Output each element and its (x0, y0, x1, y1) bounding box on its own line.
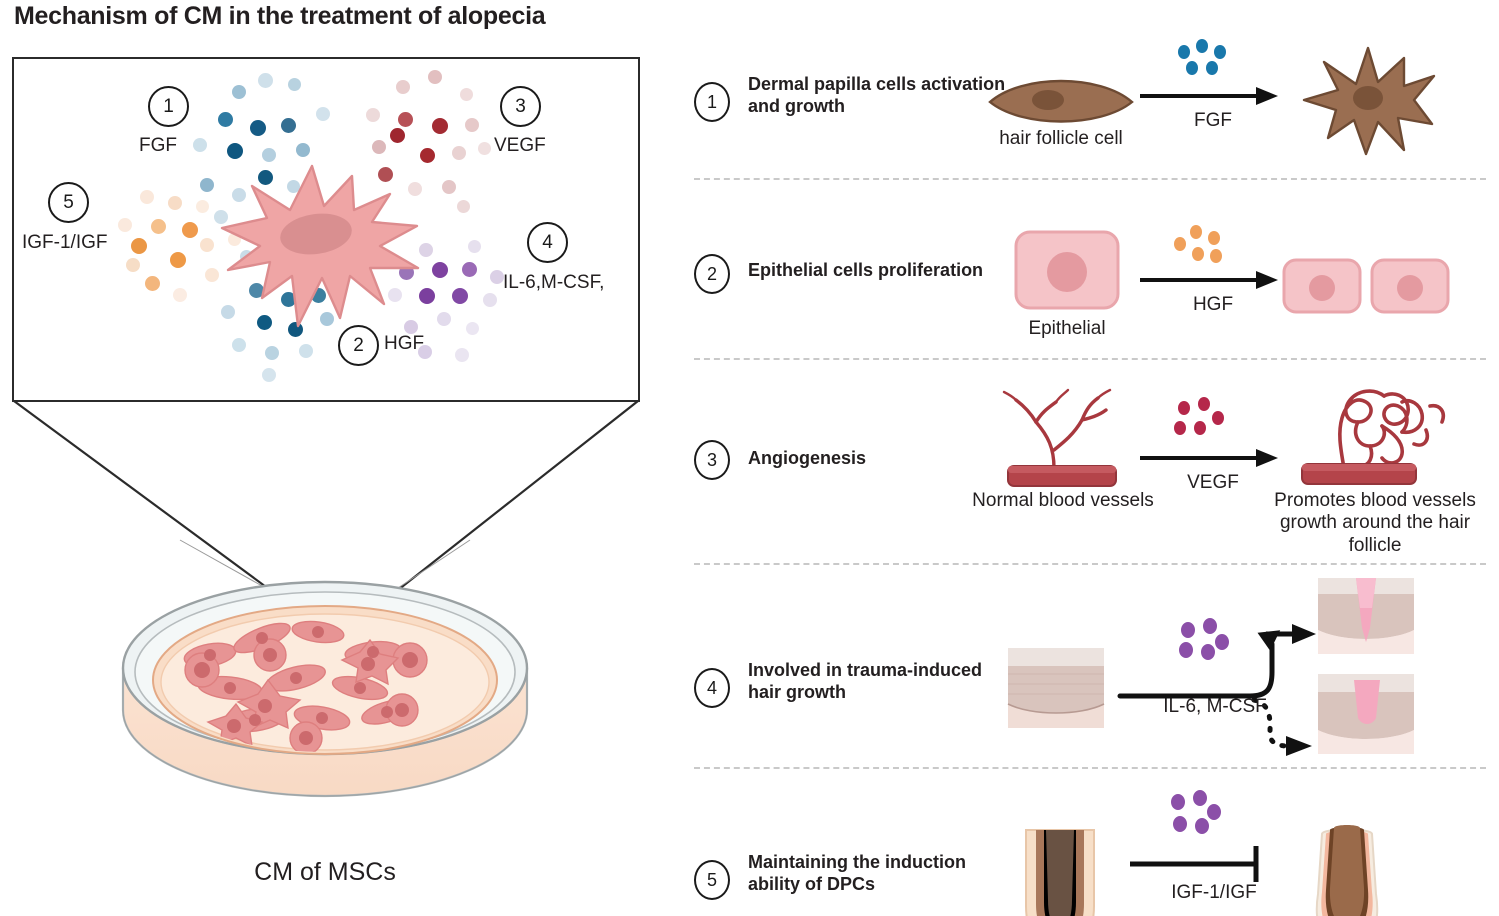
cytokine-dot (131, 238, 147, 254)
cytokine-dot (316, 107, 330, 121)
cytokine-dot (145, 276, 160, 291)
branching-reaction-arrow-4 (1120, 596, 1340, 764)
cytokine-dot (126, 258, 140, 272)
cytokine-dot (265, 346, 279, 360)
cytokine-dot (372, 140, 386, 154)
cytokine-dot (432, 118, 448, 134)
factor-label-vegf: VEGF (494, 135, 546, 157)
row-title-2: Epithelial cells proliferation (748, 260, 1028, 282)
cytokine-dots-vegf (1168, 396, 1228, 446)
cytokine-dot (466, 322, 479, 335)
hair-follicle-bulb-icon (1012, 830, 1108, 916)
diagram-canvas: Mechanism of CM in the treatment of alop… (0, 0, 1499, 916)
factor-number-1: 1 (148, 86, 189, 127)
cytokine-dot (396, 80, 410, 94)
mechanism-list: 1 Dermal papilla cells activation and gr… (690, 40, 1490, 916)
reaction-arrow-3 (1140, 446, 1280, 470)
cytokine-dot (455, 348, 469, 362)
cytokine-dot (258, 73, 273, 88)
row-source-caption-1: hair follicle cell (946, 128, 1176, 150)
cytokine-dot (460, 88, 473, 101)
factor-number-5: 5 (48, 182, 89, 223)
reaction-arrow-1 (1140, 84, 1280, 108)
proliferated-epithelial-cells-icon (1282, 254, 1452, 318)
cytokine-dot (366, 108, 380, 122)
row-badge-2: 2 (694, 254, 730, 294)
cytokine-dot (490, 270, 504, 284)
row-badge-3: 3 (694, 440, 730, 480)
factor-label-hgf: HGF (384, 333, 424, 355)
row-source-caption-2: Epithelial (1002, 318, 1132, 340)
cytokine-dot (281, 118, 296, 133)
row-agent-4: IL-6, M-CSF (1130, 696, 1300, 718)
row-badge-5: 5 (694, 860, 730, 900)
mechanism-row-2: 2 Epithelial cells proliferation Epithel… (690, 192, 1490, 357)
cytokine-dot (483, 293, 497, 307)
cytokine-dot (193, 138, 207, 152)
cytokine-dot (452, 288, 468, 304)
row-agent-5: IGF-1/IGF (1134, 882, 1294, 904)
mechanism-row-4: 4 Involved in trauma-induced hair growth (690, 578, 1490, 778)
page-title: Mechanism of CM in the treatment of alop… (14, 2, 545, 31)
cytokine-dot (478, 142, 491, 155)
inhibition-arrow-5 (1130, 844, 1290, 884)
row-separator-3 (694, 563, 1486, 565)
skin-tissue-icon (1008, 648, 1104, 728)
dpc-induced-follicle-icon (1292, 824, 1402, 916)
row-badge-4: 4 (694, 668, 730, 708)
normal-blood-vessel-icon (990, 386, 1130, 490)
row-separator-2 (694, 358, 1486, 360)
factor-number-2: 2 (338, 325, 379, 366)
cytokine-dot (227, 143, 243, 159)
row-separator-1 (694, 178, 1486, 180)
cytokine-dots-igf (1160, 788, 1220, 840)
row-title-1: Dermal papilla cells activation and grow… (748, 74, 1008, 118)
cytokine-dot (398, 112, 413, 127)
epithelial-cell-icon (1012, 228, 1122, 316)
trauma-deep-wound-icon (1318, 578, 1414, 654)
cytokine-dots-hgf (1168, 222, 1228, 266)
hair-follicle-cell-icon (986, 70, 1136, 130)
cytokine-dot (232, 85, 246, 99)
cytokine-dot (432, 262, 448, 278)
factor-label-il6: IL-6,M-CSF, (503, 272, 604, 294)
reaction-arrow-2 (1140, 268, 1280, 292)
cytokine-dot (262, 368, 276, 382)
row-title-3: Angiogenesis (748, 448, 1008, 470)
cytokine-dot (442, 180, 456, 194)
angiogenic-blood-vessel-icon (1278, 376, 1458, 490)
cytokine-dot (218, 112, 233, 127)
factor-number-3: 3 (500, 86, 541, 127)
cytokine-dot (288, 78, 301, 91)
cytokine-dot (428, 70, 442, 84)
mechanism-row-3: 3 Angiogenesis Normal blood vessels (690, 372, 1490, 562)
cytokine-dot (468, 240, 481, 253)
cytokine-dots-fgf (1170, 40, 1230, 80)
mechanism-row-5: 5 Maintaining the induction ability of D… (690, 782, 1490, 916)
row-separator-4 (694, 767, 1486, 769)
cytokine-dot (462, 262, 477, 277)
msc-cell (212, 158, 432, 348)
row-result-caption-3: Promotes blood vessels growth around the… (1260, 490, 1490, 557)
row-badge-1: 1 (694, 82, 730, 122)
cytokine-dot (173, 288, 187, 302)
dish-caption: CM of MSCs (125, 858, 525, 887)
trauma-shallow-wound-icon (1318, 674, 1414, 754)
cytokine-dot (250, 120, 266, 136)
row-agent-2: HGF (1148, 294, 1278, 316)
cytokine-dot (170, 252, 186, 268)
row-agent-1: FGF (1148, 110, 1278, 132)
cytokine-dot (437, 312, 451, 326)
cytokine-dot (390, 128, 405, 143)
factor-number-4: 4 (527, 222, 568, 263)
petri-dish (110, 560, 540, 850)
mechanism-row-1: 1 Dermal papilla cells activation and gr… (690, 40, 1490, 180)
activated-dermal-papilla-cell-icon (1298, 42, 1438, 158)
cytokine-dot (182, 222, 198, 238)
row-title-5: Maintaining the induction ability of DPC… (748, 852, 1008, 896)
cytokine-dot (140, 190, 154, 204)
cytokine-dot (151, 219, 166, 234)
factor-label-fgf: FGF (139, 135, 177, 157)
cytokine-dot (296, 143, 310, 157)
cytokine-dot (465, 118, 479, 132)
factor-label-igf: IGF-1/IGF (22, 232, 108, 254)
row-agent-3: VEGF (1148, 472, 1278, 494)
cytokine-dot (452, 146, 466, 160)
cytokine-dot (168, 196, 182, 210)
row-source-caption-3: Normal blood vessels (948, 490, 1178, 512)
cytokine-dot (457, 200, 470, 213)
cytokine-dot (196, 200, 209, 213)
row-title-4: Involved in trauma-induced hair growth (748, 660, 1008, 704)
cytokine-dot (118, 218, 132, 232)
